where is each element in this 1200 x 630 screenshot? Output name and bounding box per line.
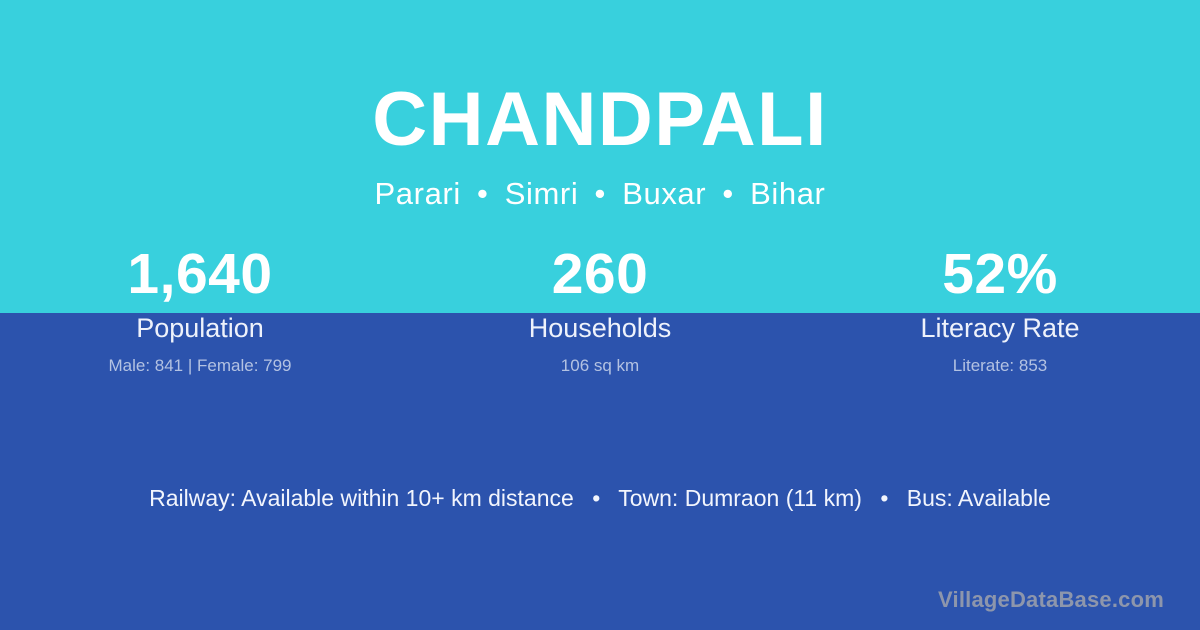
stat-value: 1,640 xyxy=(0,246,400,306)
site-watermark: VillageDataBase.com xyxy=(938,589,1164,611)
breadcrumb-separator: • xyxy=(715,176,740,211)
title-block: CHANDPALI Parari • Simri • Buxar • Bihar xyxy=(0,0,1200,209)
breadcrumb-item-block: Simri xyxy=(505,176,579,211)
stat-sublabel: Literate: 853 xyxy=(800,357,1200,374)
page-title: CHANDPALI xyxy=(0,0,1200,158)
amenity-separator: • xyxy=(580,485,612,511)
stat-sublabel: 106 sq km xyxy=(400,357,800,374)
stats-row: 1,640 Population Male: 841 | Female: 799… xyxy=(0,246,1200,374)
breadcrumb-separator: • xyxy=(470,176,495,211)
breadcrumb-item-district: Buxar xyxy=(622,176,706,211)
stat-label: Population xyxy=(0,315,400,342)
stat-value: 260 xyxy=(400,246,800,306)
village-info-card: CHANDPALI Parari • Simri • Buxar • Bihar… xyxy=(0,0,1200,630)
amenity-bus: Bus: Available xyxy=(907,485,1051,511)
stat-value: 52% xyxy=(800,246,1200,306)
breadcrumb-item-panchayat: Parari xyxy=(375,176,461,211)
amenity-town: Town: Dumraon (11 km) xyxy=(618,485,862,511)
breadcrumb-separator: • xyxy=(588,176,613,211)
amenity-separator: • xyxy=(868,485,900,511)
amenities-line: Railway: Available within 10+ km distanc… xyxy=(0,487,1200,510)
stat-sublabel: Male: 841 | Female: 799 xyxy=(0,357,400,374)
stat-households: 260 Households 106 sq km xyxy=(400,246,800,374)
breadcrumb: Parari • Simri • Buxar • Bihar xyxy=(0,158,1200,209)
breadcrumb-item-state: Bihar xyxy=(750,176,825,211)
stat-label: Literacy Rate xyxy=(800,315,1200,342)
stat-label: Households xyxy=(400,315,800,342)
stat-population: 1,640 Population Male: 841 | Female: 799 xyxy=(0,246,400,374)
amenity-railway: Railway: Available within 10+ km distanc… xyxy=(149,485,574,511)
stat-literacy-rate: 52% Literacy Rate Literate: 853 xyxy=(800,246,1200,374)
